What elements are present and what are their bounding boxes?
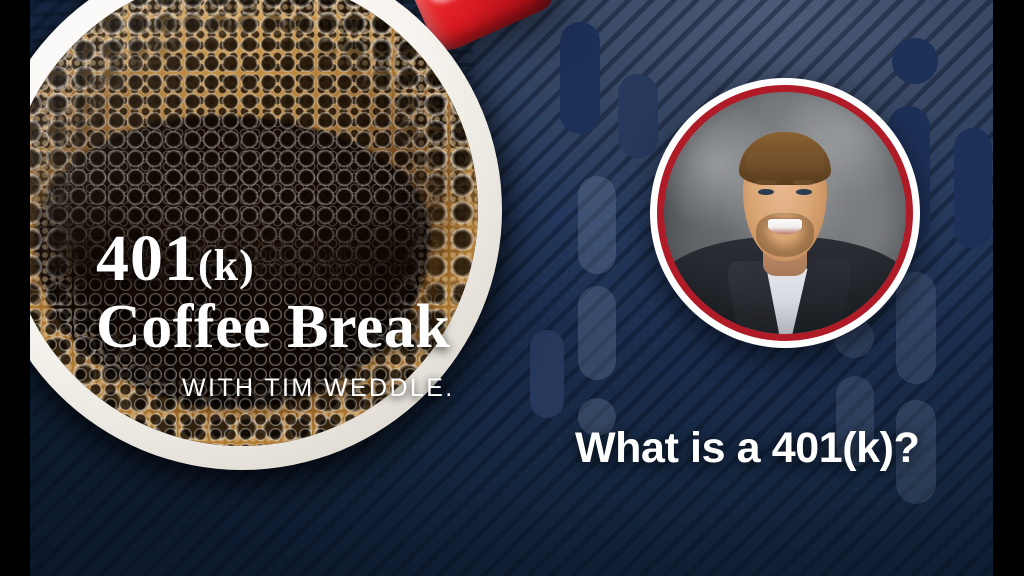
portrait-vignette [664, 92, 906, 334]
letterbox-bar-left [0, 0, 30, 576]
portrait-red-ring [657, 85, 913, 341]
title-k-superscript: (k) [198, 241, 255, 290]
show-title-line-2: Coffee Break [96, 296, 455, 358]
thumbnail-artwork: 401(k) Coffee Break WITH TIM WEDDLE. Wha… [30, 0, 993, 576]
video-thumbnail: 401(k) Coffee Break WITH TIM WEDDLE. Wha… [0, 0, 1024, 576]
portrait-photo [664, 92, 906, 334]
show-title-line-1: 401(k) [96, 228, 455, 290]
letterbox-bar-right [993, 0, 1024, 576]
host-credit-text: WITH TIM WEDDLE. [182, 374, 455, 403]
title-401-text: 401 [96, 222, 198, 295]
host-portrait-avatar [650, 78, 920, 348]
episode-headline: What is a 401(k)? [575, 424, 919, 473]
show-title-block: 401(k) Coffee Break WITH TIM WEDDLE. [96, 228, 455, 403]
